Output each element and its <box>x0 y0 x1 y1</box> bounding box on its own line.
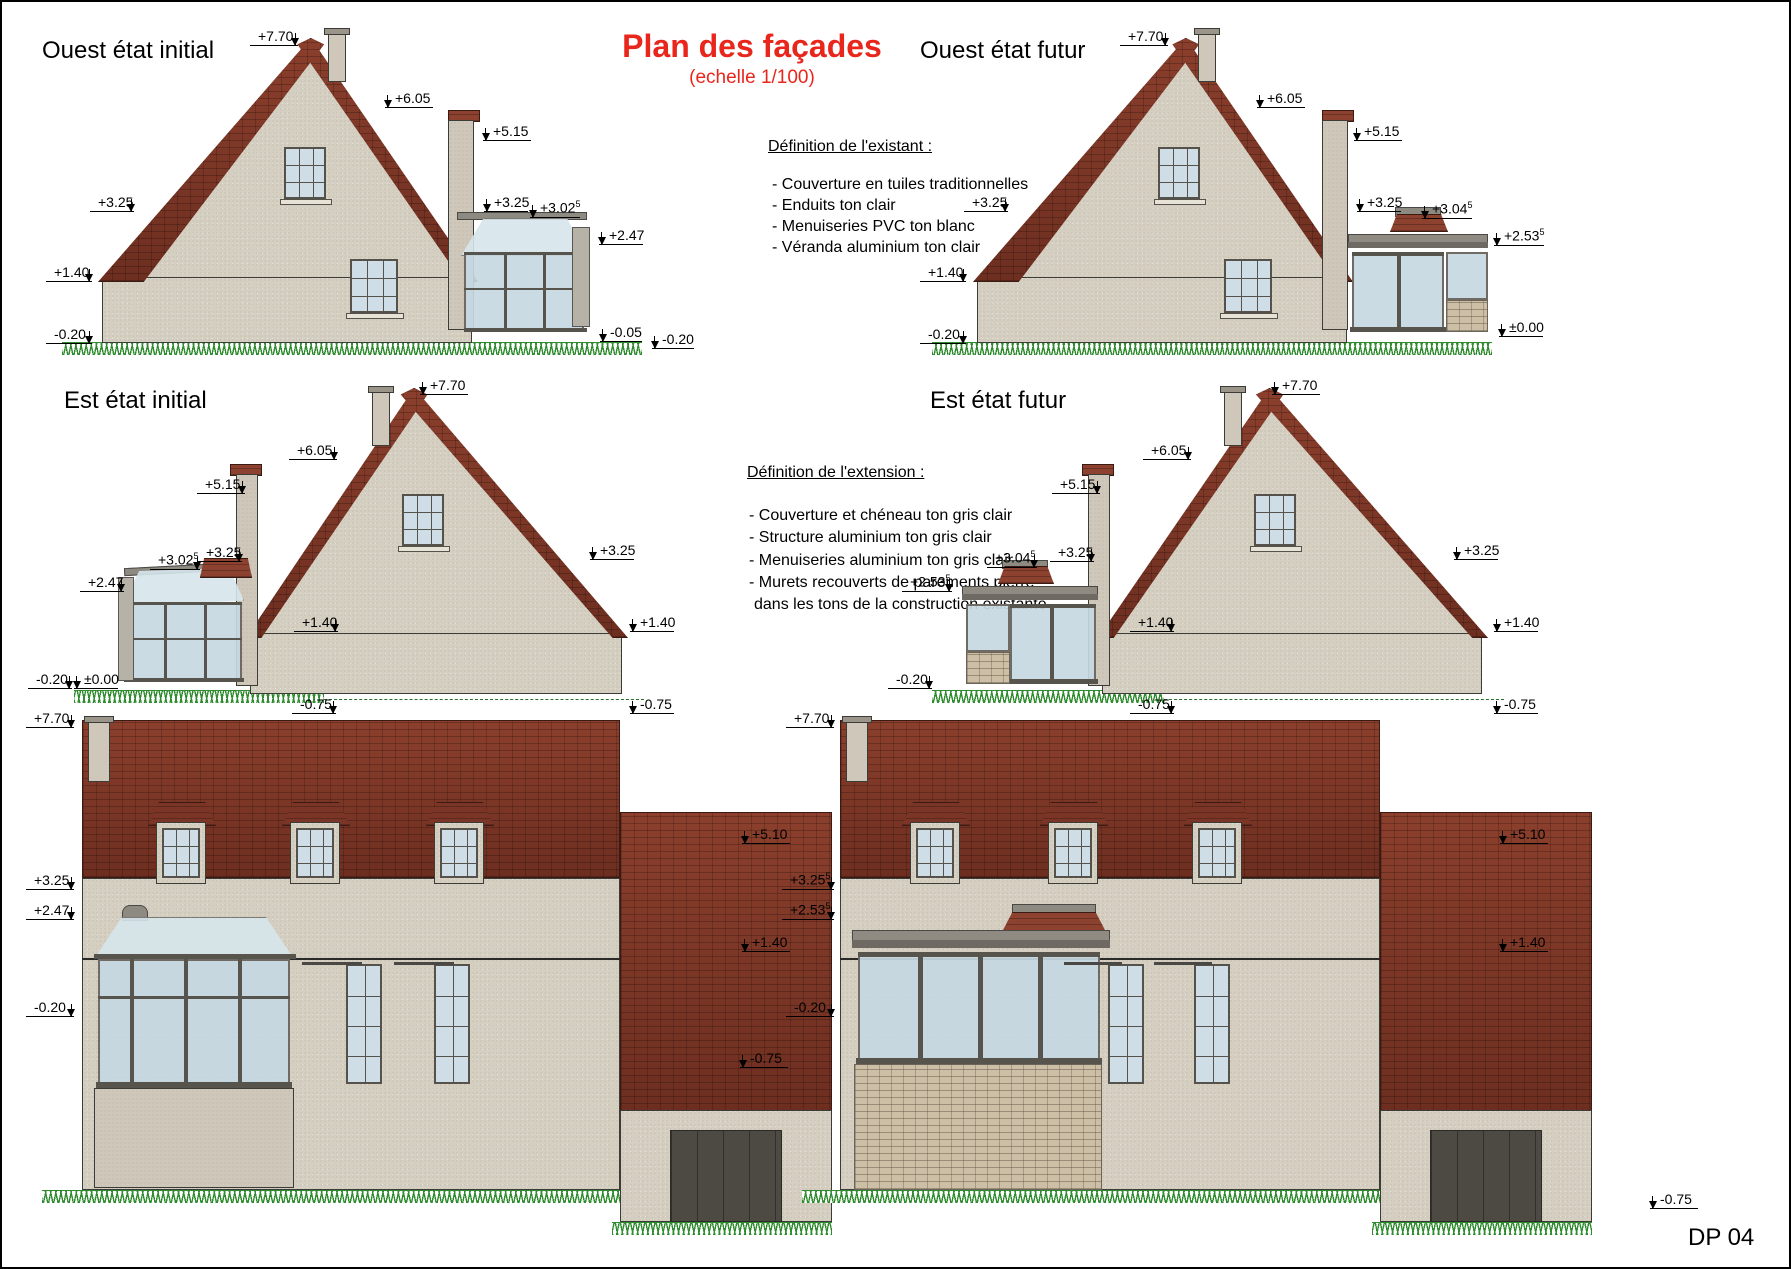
extension-lantern-roof <box>1002 912 1106 932</box>
veranda-mullion-1 <box>164 602 167 680</box>
extension-fascia <box>962 594 1098 600</box>
window-lower-sill <box>346 313 404 319</box>
level-marker-140-right: +1.40 <box>1494 610 1538 632</box>
chimney-cap <box>1194 28 1220 35</box>
window-gable <box>402 494 444 546</box>
chimney <box>1198 32 1216 82</box>
window-gable <box>1254 494 1296 546</box>
extension-sill <box>1008 679 1098 684</box>
level-marker-515: +5.15 <box>1354 119 1402 141</box>
view-title-ouest-initial: Ouest état initial <box>42 37 214 65</box>
veranda-transom <box>464 288 584 290</box>
wall-main <box>977 277 1347 343</box>
extension-head-frame <box>1010 604 1096 608</box>
sheet-id: DP 04 <box>1688 1224 1754 1252</box>
veranda-base-wall <box>94 1088 294 1188</box>
window-gable-sill <box>398 546 450 552</box>
extension-stone-wall <box>854 1064 1102 1190</box>
level-marker-140: +1.40 <box>920 260 966 282</box>
extension-mullion <box>1397 252 1401 330</box>
level-marker-m075-mid: -0.75 <box>1130 692 1174 714</box>
veranda-head-frame <box>126 602 242 605</box>
chimney-cap <box>84 716 114 723</box>
extension-stone-wall <box>1446 300 1488 332</box>
level-marker-325-veranda: +3.25 <box>198 540 242 562</box>
level-marker-m020: -0.20 <box>28 667 72 689</box>
level-marker-140: +1.40 <box>742 930 790 952</box>
awning-2 <box>394 962 454 965</box>
notes-extension-heading: Définition de l'extension : <box>747 464 924 482</box>
window-upper-sill <box>280 199 332 205</box>
veranda-mullion-2 <box>543 252 546 330</box>
level-marker-770: +7.70 <box>1272 373 1320 395</box>
level-marker-m020-right: -0.20 <box>652 327 694 349</box>
level-marker-247: +2.47 <box>26 898 74 920</box>
level-marker-325-right: +3.25 <box>1454 538 1498 560</box>
ground-hatch-garage <box>1372 1222 1592 1235</box>
level-marker-605: +6.05 <box>289 438 337 460</box>
ground-hatch <box>802 1190 1392 1203</box>
chimney-cap <box>1220 386 1246 393</box>
veranda-sill <box>124 678 244 682</box>
level-marker-3255: +3.255 <box>782 868 834 890</box>
chimney <box>328 32 346 82</box>
view-title-est-futur: Est état futur <box>930 387 1066 415</box>
extension-lantern-roof <box>998 566 1054 584</box>
wall-right-return <box>1322 120 1348 330</box>
extension-mullion <box>1050 604 1054 682</box>
level-marker-3045: +3.045 <box>1422 197 1472 219</box>
level-marker-140: +1.40 <box>1500 930 1548 952</box>
sheet-title: Plan des façades <box>542 28 962 65</box>
level-marker-515: +5.15 <box>197 472 245 494</box>
extension-mullion-1 <box>918 952 923 1062</box>
level-marker-770: +7.70 <box>420 373 468 395</box>
level-marker-m075-mid: -0.75 <box>292 692 336 714</box>
veranda-head-frame <box>464 252 584 255</box>
chimney <box>846 720 868 782</box>
veranda-transom <box>126 638 242 640</box>
ground-level-dash <box>1164 699 1504 700</box>
chimney <box>1224 390 1242 446</box>
level-marker-m075: -0.75 <box>1650 1187 1698 1209</box>
level-marker-m075-right: -0.75 <box>630 692 674 714</box>
wall-upper-band <box>840 878 1380 962</box>
ground-hatch <box>932 342 1492 355</box>
level-marker-770: +7.70 <box>1120 24 1168 46</box>
veranda-glazing <box>464 252 584 330</box>
level-marker-2535: +2.535 <box>1494 224 1544 246</box>
extension-head-frame <box>858 952 1100 957</box>
extension-mullion-2 <box>978 952 983 1062</box>
notes-existing-line-1: - Enduits ton clair <box>772 197 896 215</box>
garage-roof <box>620 812 832 1112</box>
extension-sill <box>1350 327 1446 332</box>
veranda-end-post <box>572 227 590 327</box>
level-marker-140: +1.40 <box>46 260 92 282</box>
garage-door <box>670 1130 782 1222</box>
extension-mullion-3 <box>1038 952 1043 1062</box>
level-marker-m075: -0.75 <box>740 1046 788 1068</box>
window-lower <box>350 259 398 313</box>
level-marker-000: ±0.00 <box>1499 315 1543 337</box>
window-upper <box>1158 147 1200 199</box>
level-marker-m075-right: -0.75 <box>1494 692 1538 714</box>
level-marker-325-right: +3.25 <box>1357 190 1401 212</box>
level-marker-325: +3.25 <box>26 868 74 890</box>
level-marker-325-left: +3.25 <box>964 190 1008 212</box>
extension-fascia <box>852 940 1110 948</box>
level-marker-247: +2.47 <box>599 223 643 245</box>
level-marker-325-right: +3.25 <box>590 538 634 560</box>
extension-fixed-glazing <box>966 604 1010 652</box>
extension-stone-wall <box>966 652 1010 684</box>
level-marker-3045: +3.045 <box>987 546 1037 568</box>
level-marker-000: ±0.00 <box>74 667 118 689</box>
level-marker-m020: -0.20 <box>26 995 74 1017</box>
french-window-2 <box>1194 964 1230 1084</box>
level-marker-3025: +3.025 <box>150 548 200 570</box>
level-marker-510: +5.10 <box>1500 822 1548 844</box>
veranda-roof-glass <box>94 917 294 959</box>
veranda-glazing <box>98 959 290 1085</box>
sheet-subtitle: (echelle 1/100) <box>542 67 962 89</box>
ground-hatch-garage <box>612 1222 832 1235</box>
level-marker-m020: -0.20 <box>46 322 92 344</box>
awning-1 <box>1064 962 1122 965</box>
level-marker-515: +5.15 <box>1052 472 1100 494</box>
level-marker-770: +7.70 <box>786 706 834 728</box>
view-title-ouest-futur: Ouest état futur <box>920 37 1085 65</box>
garage-door <box>1430 1130 1542 1222</box>
veranda-mullion-2 <box>184 959 188 1085</box>
french-window-1 <box>1108 964 1144 1084</box>
drawing-sheet: Plan des façades (echelle 1/100) Définit… <box>0 0 1791 1269</box>
window-lower <box>1224 259 1272 313</box>
awning-2 <box>1154 962 1212 965</box>
awning-1 <box>302 962 362 965</box>
veranda-mullion-3 <box>238 959 242 1085</box>
level-marker-605: +6.05 <box>1257 86 1305 108</box>
veranda-transom <box>98 996 290 999</box>
level-marker-515: +5.15 <box>483 119 531 141</box>
notes-existing-line-3: - Véranda aluminium ton clair <box>772 239 980 257</box>
level-marker-m020: -0.20 <box>920 322 966 344</box>
ground-level-dash <box>324 699 644 700</box>
veranda-end-post <box>118 577 134 681</box>
notes-existing-heading: Définition de l'existant : <box>768 138 932 156</box>
level-marker-140-mid: +1.40 <box>1130 610 1174 632</box>
veranda-mullion-1 <box>130 959 134 1085</box>
veranda-sill <box>464 328 587 332</box>
extension-fixed-glazing <box>1446 252 1488 300</box>
level-marker-m020: -0.20 <box>786 995 834 1017</box>
ground-hatch <box>62 342 642 355</box>
notes-existing-line-2: - Menuiseries PVC ton blanc <box>772 218 975 236</box>
chimney-cap <box>368 386 394 393</box>
level-marker-140-right: +1.40 <box>630 610 674 632</box>
notes-extension-line-2: - Menuiseries aluminium ton gris clair <box>749 552 1013 570</box>
window-upper <box>284 147 326 199</box>
window-gable-sill <box>1250 546 1302 552</box>
level-marker-770: +7.70 <box>250 24 298 46</box>
level-marker-247: +2.47 <box>80 570 124 592</box>
window-lower-sill <box>1220 313 1278 319</box>
wall-main <box>250 632 622 694</box>
extension-fascia <box>1348 242 1488 248</box>
level-marker-2535: +2.535 <box>782 898 834 920</box>
chimney-cap <box>842 716 872 723</box>
level-marker-605: +6.05 <box>1143 438 1191 460</box>
veranda-roof-glass <box>461 218 587 256</box>
wall-main <box>1102 632 1482 694</box>
window-upper-sill <box>1154 199 1206 205</box>
veranda-mullion-2 <box>204 602 207 680</box>
veranda-glazing <box>126 602 242 680</box>
level-marker-510: +5.10 <box>742 822 790 844</box>
garage-roof <box>1380 812 1592 1112</box>
level-marker-325-left: +3.25 <box>90 190 134 212</box>
french-window-1 <box>346 964 382 1084</box>
wall-main-base <box>102 277 472 343</box>
notes-extension-line-1: - Structure aluminium ton gris clair <box>749 529 992 547</box>
chimney <box>88 720 110 782</box>
level-marker-325-veranda: +3.25 <box>484 190 528 212</box>
veranda-mullion-1 <box>504 252 507 330</box>
level-marker-605: +6.05 <box>385 86 433 108</box>
level-marker-770: +7.70 <box>26 706 74 728</box>
level-marker-325-left: +3.25 <box>1050 540 1094 562</box>
level-marker-2535: +2.535 <box>902 570 952 592</box>
chimney <box>372 390 390 446</box>
level-marker-m005: -0.05 <box>600 320 642 342</box>
chimney-cap <box>324 28 350 35</box>
french-window-2 <box>434 964 470 1084</box>
level-marker-3025: +3.025 <box>530 196 580 218</box>
view-title-est-initial: Est état initial <box>64 387 207 415</box>
extension-head-frame <box>1352 252 1444 256</box>
ground-hatch <box>42 1190 632 1203</box>
level-marker-140-mid: +1.40 <box>294 610 338 632</box>
notes-extension-line-0: - Couverture et chéneau ton gris clair <box>749 507 1012 525</box>
level-marker-m020: -0.20 <box>888 667 932 689</box>
